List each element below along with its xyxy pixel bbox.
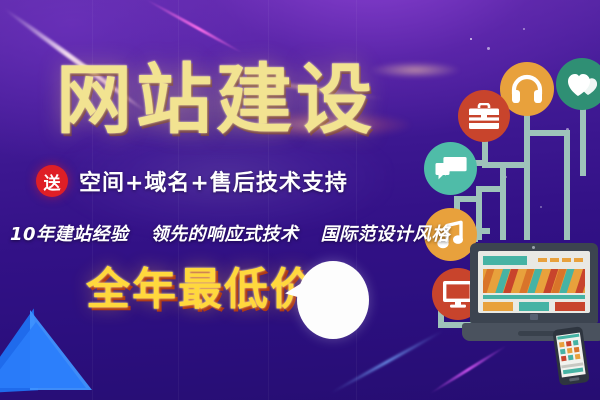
price-headline: 全年最低价	[86, 268, 316, 312]
pyramid-decoration-icon	[0, 300, 112, 400]
gift-line: 送 空间+域名+售后技术支持	[36, 165, 348, 197]
website-construction-banner: 网站建设 送 空间+域名+售后技术支持 10年建站经验 领先的响应式技术 国际范…	[0, 0, 600, 400]
gift-badge: 送	[36, 165, 68, 197]
light-streak-icon	[429, 345, 507, 395]
chat-icon[interactable]	[424, 142, 477, 195]
speech-bubble-icon	[297, 261, 369, 339]
light-streak-icon	[329, 329, 444, 395]
feature-item: 领先的响应式技术	[151, 220, 299, 246]
gift-text: 空间+域名+售后技术支持	[79, 165, 348, 197]
briefcase-icon[interactable]	[458, 90, 510, 142]
lens-flare-icon	[370, 62, 460, 78]
feature-list: 10年建站经验 领先的响应式技术 国际范设计风格	[10, 220, 450, 246]
light-streak-icon	[145, 0, 243, 54]
feature-item: 国际范设计风格	[321, 220, 451, 246]
hearts-icon[interactable]	[556, 58, 600, 110]
feature-item: 10年建站经验	[10, 220, 129, 246]
page-title: 网站建设	[56, 62, 376, 138]
